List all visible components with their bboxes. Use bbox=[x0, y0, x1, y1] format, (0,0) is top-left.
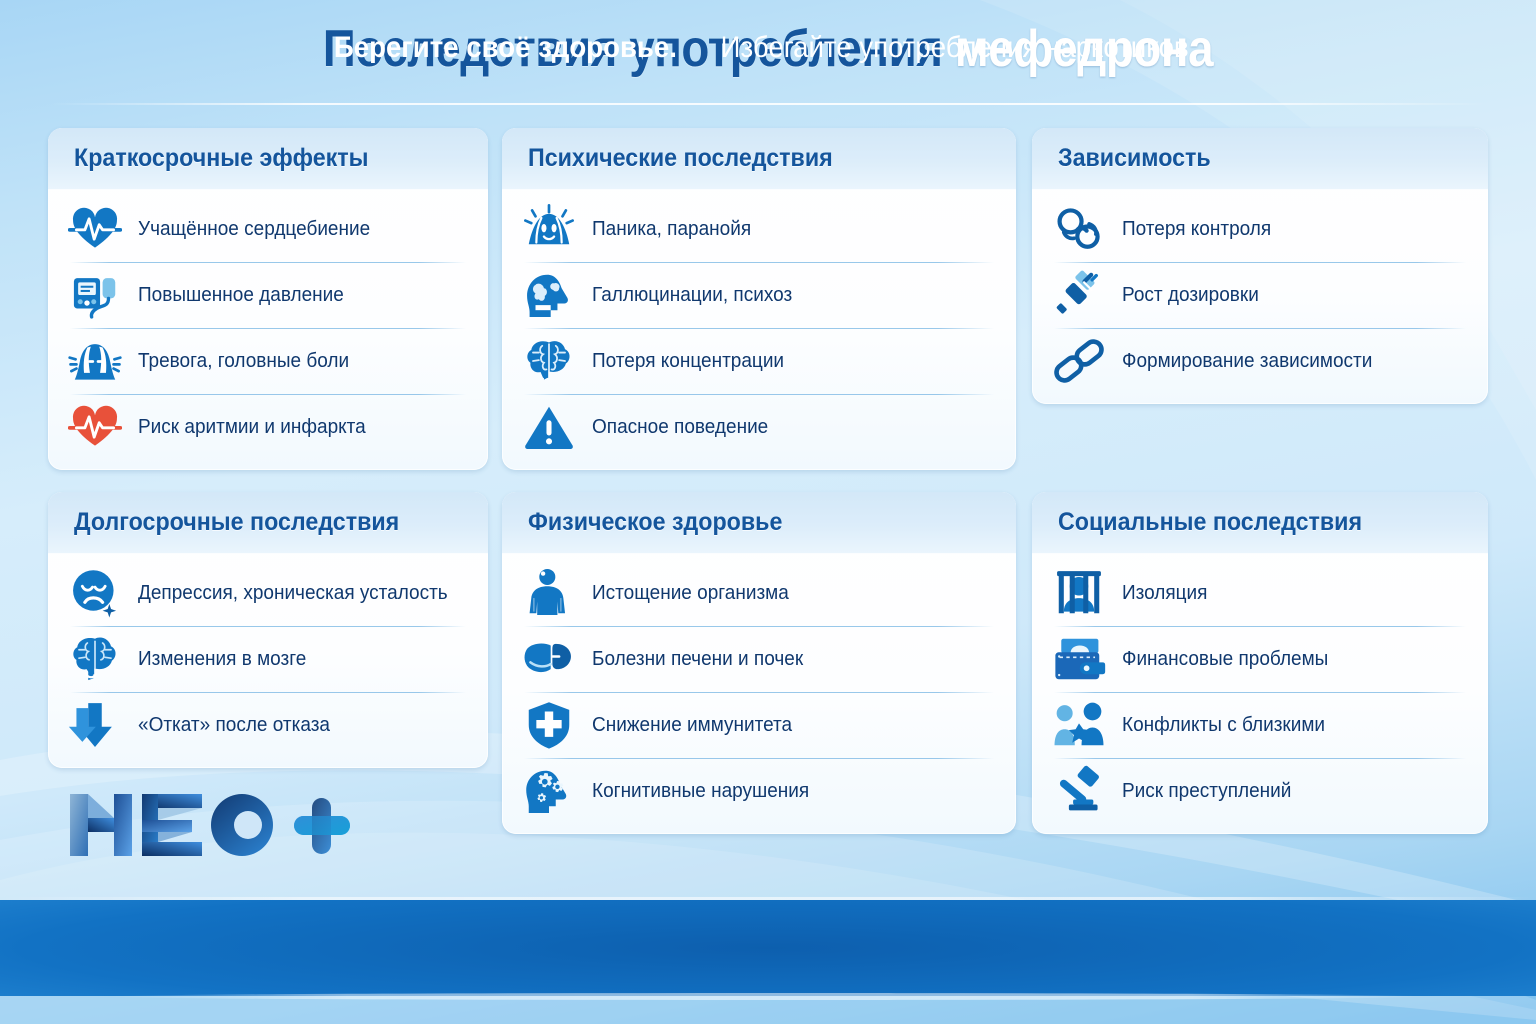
card-header: Краткосрочные эффекты bbox=[48, 128, 488, 190]
down-arrows-icon bbox=[66, 696, 124, 754]
list-item[interactable]: Паника, паранойя bbox=[520, 196, 998, 262]
card-header: Зависимость bbox=[1032, 128, 1488, 190]
list-item-label: Опасное поведение bbox=[592, 416, 768, 439]
list-item[interactable]: Изменения в мозге bbox=[66, 626, 470, 692]
card-long-term-consequences: Долгосрочные последствия Депрессия, хрон… bbox=[48, 492, 488, 768]
card-title: Социальные последствия bbox=[1058, 508, 1362, 537]
list-item[interactable]: Галлюцинации, психоз bbox=[520, 262, 998, 328]
title-divider bbox=[50, 103, 1486, 105]
list-item-label: Учащённое сердцебиение bbox=[138, 218, 370, 241]
brain-icon bbox=[520, 332, 578, 390]
card-physical-health: Физическое здоровье Истощение организма bbox=[502, 492, 1016, 834]
prison-bars-icon bbox=[1050, 564, 1108, 622]
gears-head-icon bbox=[520, 762, 578, 820]
syringe-icon bbox=[1050, 266, 1108, 324]
list-item[interactable]: Истощение организма bbox=[520, 560, 998, 626]
card-title: Зависимость bbox=[1058, 144, 1211, 173]
heart-attack-icon bbox=[66, 398, 124, 456]
list-item-label: Изменения в мозге bbox=[138, 648, 306, 671]
chain-link-icon bbox=[1050, 332, 1108, 390]
list-item[interactable]: Болезни печени и почек bbox=[520, 626, 998, 692]
card-body: Изоляция bbox=[1032, 554, 1488, 834]
list-item-label: Формирование зависимости bbox=[1122, 350, 1372, 373]
hallucination-head-icon bbox=[520, 266, 578, 324]
card-header: Психические последствия bbox=[502, 128, 1016, 190]
heart-pulse-icon bbox=[66, 200, 124, 258]
list-item[interactable]: «Откат» после отказа bbox=[66, 692, 470, 758]
handcuffs-icon bbox=[1050, 200, 1108, 258]
wallet-icon bbox=[1050, 630, 1108, 688]
list-item-label: Рост дозировки bbox=[1122, 284, 1259, 307]
card-title: Долгосрочные последствия bbox=[74, 508, 399, 537]
footer-band bbox=[0, 900, 1536, 996]
list-item[interactable]: Рост дозировки bbox=[1050, 262, 1470, 328]
list-item-label: Когнитивные нарушения bbox=[592, 780, 809, 803]
list-item[interactable]: Потеря концентрации bbox=[520, 328, 998, 394]
footer-regular-text: Избегайте употребления наркотиков. bbox=[721, 31, 1197, 65]
list-item-label: Галлюцинации, психоз bbox=[592, 284, 792, 307]
list-item-label: «Откат» после отказа bbox=[138, 714, 330, 737]
list-item-label: Риск аритмии и инфаркта bbox=[138, 416, 366, 439]
exhausted-person-icon bbox=[520, 564, 578, 622]
blood-pressure-icon bbox=[66, 266, 124, 324]
card-body: Потеря контроля Рост дозировки bbox=[1032, 190, 1488, 404]
list-item[interactable]: Когнитивные нарушения bbox=[520, 758, 998, 824]
list-item[interactable]: Риск преступлений bbox=[1050, 758, 1470, 824]
headache-icon bbox=[66, 332, 124, 390]
list-item[interactable]: Конфликты с близкими bbox=[1050, 692, 1470, 758]
list-item-label: Депрессия, хроническая усталость bbox=[138, 582, 448, 605]
list-item-label: Истощение организма bbox=[592, 582, 789, 605]
card-header: Физическое здоровье bbox=[502, 492, 1016, 554]
list-item-label: Потеря концентрации bbox=[592, 350, 784, 373]
liver-kidney-icon bbox=[520, 630, 578, 688]
brain-change-icon bbox=[66, 630, 124, 688]
list-item-label: Конфликты с близкими bbox=[1122, 714, 1325, 737]
card-short-term-effects: Краткосрочные эффекты Учащённое сердцеби… bbox=[48, 128, 488, 470]
card-title: Краткосрочные эффекты bbox=[74, 144, 369, 173]
card-social-consequences: Социальные последствия bbox=[1032, 492, 1488, 834]
list-item-label: Риск преступлений bbox=[1122, 780, 1291, 803]
conflict-people-icon bbox=[1050, 696, 1108, 754]
infographic-root: Последствия употребления мефедрона Кратк… bbox=[0, 0, 1536, 1024]
list-item[interactable]: Финансовые проблемы bbox=[1050, 626, 1470, 692]
card-body: Паника, паранойя Галлюцинации, психоз bbox=[502, 190, 1016, 470]
list-item[interactable]: Потеря контроля bbox=[1050, 196, 1470, 262]
card-header: Социальные последствия bbox=[1032, 492, 1488, 554]
list-item[interactable]: Формирование зависимости bbox=[1050, 328, 1470, 394]
neo-plus-logo bbox=[62, 786, 352, 864]
list-item[interactable]: Повышенное давление bbox=[66, 262, 470, 328]
card-title: Психические последствия bbox=[528, 144, 833, 173]
sad-face-icon bbox=[66, 564, 124, 622]
list-item[interactable]: Снижение иммунитета bbox=[520, 692, 998, 758]
list-item[interactable]: Опасное поведение bbox=[520, 394, 998, 460]
list-item[interactable]: Тревога, головные боли bbox=[66, 328, 470, 394]
card-header: Долгосрочные последствия bbox=[48, 492, 488, 554]
shield-cross-icon bbox=[520, 696, 578, 754]
list-item-label: Потеря контроля bbox=[1122, 218, 1271, 241]
warning-triangle-icon bbox=[520, 398, 578, 456]
card-body: Учащённое сердцебиение bbox=[48, 190, 488, 470]
list-item-label: Изоляция bbox=[1122, 582, 1207, 605]
list-item[interactable]: Изоляция bbox=[1050, 560, 1470, 626]
list-item-label: Болезни печени и почек bbox=[592, 648, 803, 671]
list-item[interactable]: Риск аритмии и инфаркта bbox=[66, 394, 470, 460]
panic-face-icon bbox=[520, 200, 578, 258]
list-item[interactable]: Депрессия, хроническая усталость bbox=[66, 560, 470, 626]
footer-bold-text: Берегите своё здоровье. bbox=[334, 31, 677, 65]
gavel-icon bbox=[1050, 762, 1108, 820]
list-item[interactable]: Учащённое сердцебиение bbox=[66, 196, 470, 262]
list-item-label: Паника, паранойя bbox=[592, 218, 751, 241]
footer-message: Берегите своё здоровье. Избегайте употре… bbox=[0, 0, 1536, 96]
logo-glyphs bbox=[62, 786, 352, 864]
card-body: Депрессия, хроническая усталость bbox=[48, 554, 488, 768]
list-item-label: Снижение иммунитета bbox=[592, 714, 792, 737]
card-dependence: Зависимость Потеря контроля bbox=[1032, 128, 1488, 404]
list-item-label: Повышенное давление bbox=[138, 284, 344, 307]
card-mental-consequences: Психические последствия Паника, паранойя bbox=[502, 128, 1016, 470]
list-item-label: Финансовые проблемы bbox=[1122, 648, 1328, 671]
list-item-label: Тревога, головные боли bbox=[138, 350, 349, 373]
card-body: Истощение организма Болезни печени и поч… bbox=[502, 554, 1016, 834]
card-title: Физическое здоровье bbox=[528, 508, 782, 537]
